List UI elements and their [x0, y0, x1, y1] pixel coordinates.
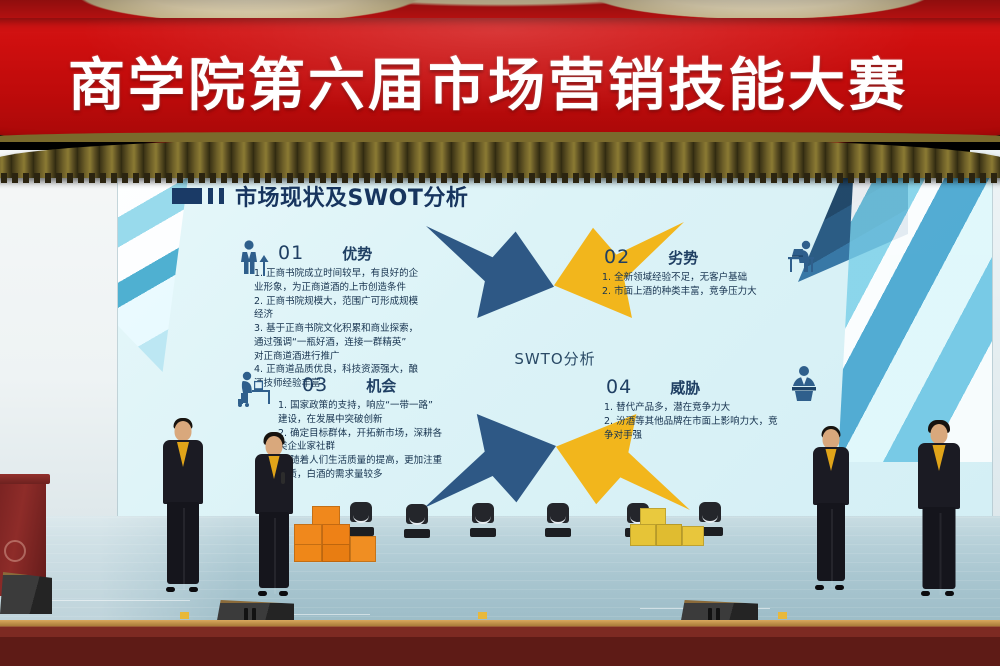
quadrant-line: 争对手强 — [604, 429, 818, 443]
event-banner: 商学院第六届市场营销技能大赛 — [0, 18, 1000, 146]
quadrant-line: 2. 市面上酒的种类丰富，竞争压力大 — [602, 285, 814, 299]
stage-front-panel — [0, 622, 1000, 666]
floor-tape-mark — [180, 612, 189, 619]
moving-head-light — [404, 504, 430, 538]
prop-box — [294, 544, 322, 562]
led-presentation-screen: 市场现状及SWOT分析 SWTO分析 01 — [118, 162, 992, 517]
quadrant-line: 1. 国家政策的支持，响应“一带一路” — [278, 399, 473, 413]
slide-title-text: 市场现状及SWOT分析 — [235, 180, 468, 212]
quadrant-number: 01 — [278, 242, 304, 264]
slide-title: 市场现状及SWOT分析 — [172, 180, 468, 212]
prop-box — [682, 526, 704, 546]
quadrant-line: 3. 随着人们生活质量的提高，更加注重 — [278, 454, 473, 468]
yellow-box-stack — [630, 508, 714, 556]
quadrant-line: 2. 确定目标群体，开拓新市场，深耕各 — [278, 427, 473, 441]
quadrant-number: 02 — [604, 246, 630, 268]
quadrant-label: 威胁 — [670, 377, 700, 398]
quadrant-line: 2. 正商书院规模大，范围广可形成规模 — [254, 295, 446, 309]
photo-scene: 商学院第六届市场营销技能大赛 市场现状及SWOT分析 SWTO分析 — [0, 0, 1000, 666]
prop-box — [630, 524, 656, 546]
quadrant-line: 对正商道酒进行推广 — [254, 350, 446, 364]
quadrant-number: 03 — [302, 374, 328, 396]
title-bar-icon-2 — [219, 188, 224, 204]
orange-box-stack — [292, 506, 392, 558]
speaker-podium-icon — [784, 364, 824, 404]
quadrant-number: 04 — [606, 376, 632, 398]
quadrant-weaknesses: 02 劣势 1. 全新领域经验不足，无客户基础 2. 市面上酒的种类丰富，竞争压… — [602, 246, 814, 299]
prop-box — [322, 544, 350, 562]
prop-box — [656, 524, 682, 546]
hall-wall-left — [0, 150, 120, 530]
stage-edge-trim — [0, 620, 1000, 626]
quadrant-line: 1. 替代产品多，潜在竞争力大 — [604, 401, 818, 415]
quadrant-body: 1. 全新领域经验不足，无客户基础 2. 市面上酒的种类丰富，竞争压力大 — [602, 271, 814, 299]
quadrant-line: 品质，白酒的需求量较多 — [278, 468, 473, 482]
quadrant-line: 2. 汾酒等其他品牌在市面上影响力大，竞 — [604, 415, 818, 429]
lectern-top — [0, 474, 50, 484]
moving-head-light — [470, 503, 496, 537]
quadrant-line: 1. 正商书院成立时间较早，有良好的企 — [254, 267, 446, 281]
swot-slide: 市场现状及SWOT分析 SWTO分析 01 — [118, 162, 992, 517]
prop-box — [294, 524, 322, 546]
stage-cable — [290, 614, 370, 615]
presenter-3 — [810, 426, 852, 586]
title-bar-icon-1 — [208, 188, 213, 204]
stage-monitor-speaker-left-floor — [0, 572, 52, 614]
quadrant-label: 劣势 — [668, 247, 698, 268]
floor-tape-mark — [478, 612, 487, 619]
title-block-icon — [172, 188, 202, 204]
lectern-emblem-icon — [4, 540, 26, 562]
presenter-4 — [915, 420, 963, 592]
valance-rail — [0, 132, 1000, 142]
quadrant-line: 经济 — [254, 308, 446, 322]
presenter-1 — [160, 418, 206, 588]
glass-decoration-right-image — [838, 162, 992, 462]
prop-box — [322, 524, 350, 546]
moving-head-light — [545, 503, 571, 537]
prop-box — [350, 536, 376, 562]
microphone-icon — [281, 472, 285, 484]
quadrant-line: 业形象，为正商道酒的上市创造条件 — [254, 281, 446, 295]
quadrant-line: 类企业家社群 — [278, 440, 473, 454]
quadrant-label: 机会 — [366, 375, 396, 396]
stage-valance-curtain — [0, 136, 1000, 178]
stage-cable — [40, 600, 190, 601]
person-at-desk-icon — [782, 236, 822, 276]
floor-tape-mark — [778, 612, 787, 619]
quadrant-line: 通过强调“一瓶好酒，连接一群精英” — [254, 336, 446, 350]
event-banner-text: 商学院第六届市场营销技能大赛 — [0, 39, 988, 121]
quadrant-label: 优势 — [342, 243, 372, 264]
quadrant-line: 建设，在发展中突破创新 — [278, 413, 473, 427]
quadrant-threats: 04 威胁 1. 替代产品多，潜在竞争力大 2. 汾酒等其他品牌在市面上影响力大… — [604, 376, 818, 442]
quadrant-body: 1. 替代产品多，潜在竞争力大 2. 汾酒等其他品牌在市面上影响力大，竞 争对手… — [604, 401, 818, 442]
prop-box — [312, 506, 340, 526]
presenter-2 — [252, 432, 296, 592]
quadrant-line: 1. 全新领域经验不足，无客户基础 — [602, 271, 814, 285]
quadrant-line: 3. 基于正商书院文化积累和商业探索， — [254, 322, 446, 336]
